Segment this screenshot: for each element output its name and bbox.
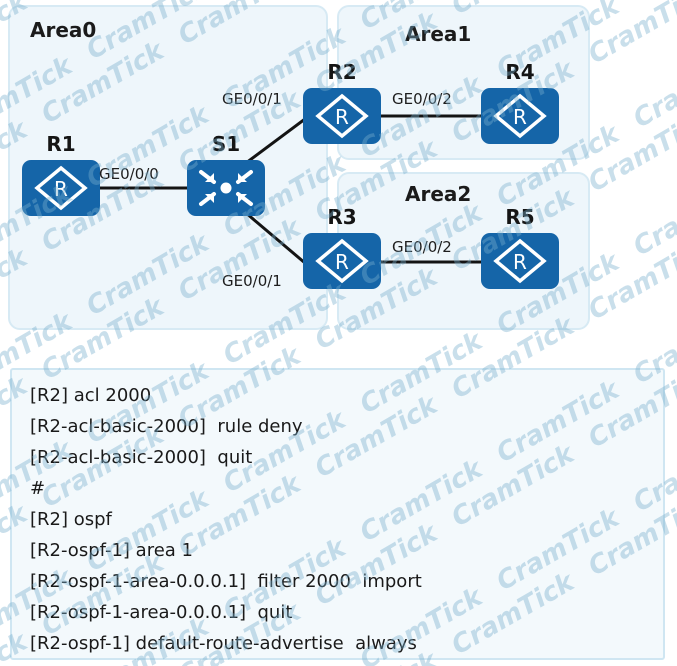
svg-text:R: R — [335, 250, 349, 274]
interface-label-r3-r5: GE0/0/2 — [392, 238, 452, 256]
svg-text:R: R — [513, 105, 527, 129]
diagram-canvas: Area0 Area1 Area2 R1 R S1 — [0, 0, 677, 666]
svg-text:R: R — [335, 105, 349, 129]
interface-label-r2-r4: GE0/0/2 — [392, 90, 452, 108]
device-s1[interactable] — [187, 160, 265, 216]
router-icon: R — [481, 233, 559, 289]
router-icon: R — [22, 160, 100, 216]
device-label-r3: R3 — [303, 205, 381, 229]
area-label-area2: Area2 — [405, 182, 471, 206]
device-r2[interactable]: R — [303, 88, 381, 144]
interface-label-r1-s1: GE0/0/0 — [99, 165, 159, 183]
interface-label-s1-r3: GE0/0/1 — [222, 272, 282, 290]
svg-text:R: R — [54, 177, 68, 201]
interface-label-s1-r2: GE0/0/1 — [222, 90, 282, 108]
device-r5[interactable]: R — [481, 233, 559, 289]
device-r1[interactable]: R — [22, 160, 100, 216]
area-label-area0: Area0 — [30, 18, 96, 42]
device-label-r5: R5 — [481, 205, 559, 229]
device-label-r1: R1 — [22, 132, 100, 156]
device-label-s1: S1 — [187, 132, 265, 156]
device-label-r2: R2 — [303, 60, 381, 84]
router-icon: R — [481, 88, 559, 144]
link-s1-r3 — [246, 213, 305, 263]
device-r4[interactable]: R — [481, 88, 559, 144]
router-icon: R — [303, 233, 381, 289]
device-label-r4: R4 — [481, 60, 559, 84]
router-icon: R — [303, 88, 381, 144]
device-r3[interactable]: R — [303, 233, 381, 289]
svg-text:R: R — [513, 250, 527, 274]
area-label-area1: Area1 — [405, 22, 471, 46]
switch-icon — [187, 160, 265, 216]
